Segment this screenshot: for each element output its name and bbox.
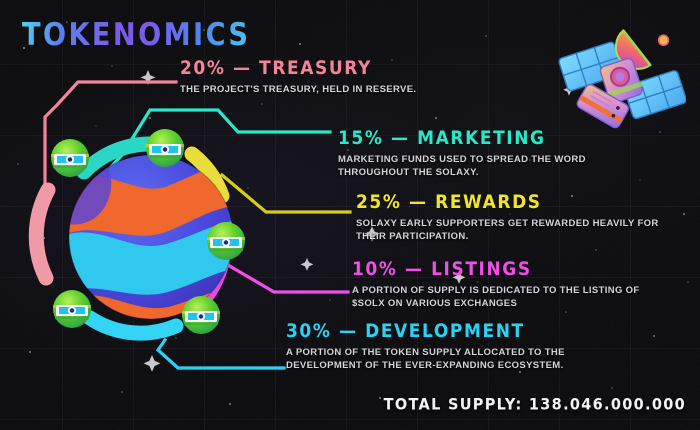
section-body-development: A PORTION OF THE TOKEN SUPPLY ALLOCATED … <box>286 346 565 373</box>
section-body-marketing: MARKETING FUNDS USED TO SPREAD THE WORD … <box>338 153 586 180</box>
alien-token <box>53 290 91 328</box>
section-body-rewards: SOLAXY EARLY SUPPORTERS GET REWARDED HEA… <box>356 217 659 244</box>
section-marketing: 15% — MARKETING MARKETING FUNDS USED TO … <box>338 130 586 180</box>
section-heading-treasury: 20% — TREASURY <box>180 60 416 79</box>
section-heading-development: 30% — DEVELOPMENT <box>286 323 565 342</box>
arc-pink <box>36 190 48 278</box>
section-rewards: 25% — REWARDS SOLAXY EARLY SUPPORTERS GE… <box>356 194 659 244</box>
section-heading-rewards: 25% — REWARDS <box>356 194 659 213</box>
section-listings: 10% — LISTINGS A PORTION OF SUPPLY IS DE… <box>352 261 640 311</box>
alien-token <box>182 296 220 334</box>
section-heading-marketing: 15% — MARKETING <box>338 130 586 149</box>
page-title: TOKENOMICS <box>22 16 250 53</box>
section-body-listings: A PORTION OF SUPPLY IS DEDICATED TO THE … <box>352 284 640 311</box>
alien-token <box>146 129 184 167</box>
satellite-graphic <box>556 22 686 142</box>
alien-token <box>51 139 89 177</box>
total-supply-label: TOTAL SUPPLY: 138.046.000.000 <box>384 397 686 414</box>
section-body-treasury: THE PROJECT'S TREASURY, HELD IN RESERVE. <box>180 83 416 96</box>
arc-cyan <box>90 318 176 333</box>
infographic-canvas: TOKENOMICS <box>0 0 700 430</box>
section-heading-listings: 10% — LISTINGS <box>352 261 640 280</box>
section-treasury: 20% — TREASURY THE PROJECT'S TREASURY, H… <box>180 60 416 96</box>
alien-token <box>207 222 245 260</box>
section-development: 30% — DEVELOPMENT A PORTION OF THE TOKEN… <box>286 323 565 373</box>
planet-graphic <box>26 112 276 362</box>
